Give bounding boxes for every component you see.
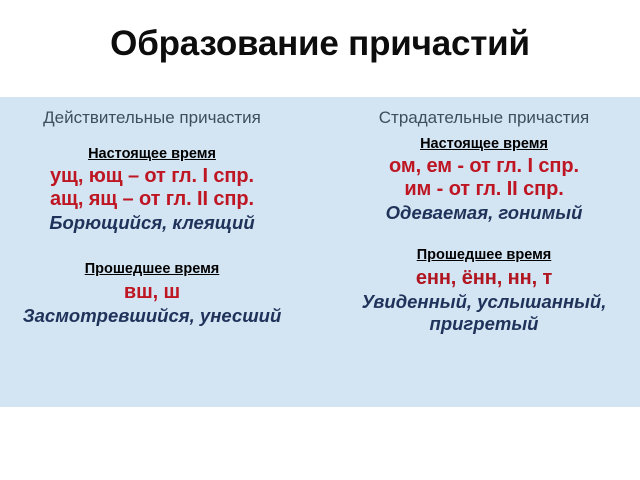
right-past-tense-block: Прошедшее время енн, ённ, нн, т Увиденны…: [342, 246, 626, 335]
right-present-tense-block: Настоящее время ом, ем - от гл. I спр. и…: [342, 135, 626, 225]
right-past-tense-label: Прошедшее время: [342, 246, 626, 264]
left-past-examples: Засмотревшийся, унесший: [10, 305, 294, 327]
right-past-examples: Увиденный, услышанный, пригретый: [342, 291, 626, 335]
right-past-rule-line-1: енн, ённ, нн, т: [342, 267, 626, 290]
left-present-tense-block: Настоящее время ущ, ющ – от гл. I спр. а…: [10, 145, 294, 235]
column-heading-passive: Страдательные причастия: [342, 97, 626, 129]
left-present-rule-line-1: ущ, ющ – от гл. I спр.: [10, 165, 294, 188]
right-present-rule-line-2: им - от гл. II спр.: [342, 178, 626, 201]
left-past-rule-line-1: вш, ш: [10, 281, 294, 304]
right-present-examples: Одеваемая, гонимый: [342, 202, 626, 224]
right-present-tense-label: Настоящее время: [342, 135, 626, 153]
column-active-participles: Действительные причастия Настоящее время…: [0, 97, 320, 407]
left-present-examples: Борющийся, клеящий: [10, 212, 294, 234]
left-present-rule-line-2: ащ, ящ – от гл. II спр.: [10, 188, 294, 211]
column-passive-participles: Страдательные причастия Настоящее время …: [320, 97, 640, 407]
column-heading-active: Действительные причастия: [10, 97, 294, 129]
left-past-tense-block: Прошедшее время вш, ш Засмотревшийся, ун…: [10, 260, 294, 327]
page-title: Образование причастий: [0, 26, 640, 63]
left-past-tense-label: Прошедшее время: [10, 260, 294, 278]
content-panel: Действительные причастия Настоящее время…: [0, 97, 640, 407]
right-present-rule-line-1: ом, ем - от гл. I спр.: [342, 155, 626, 178]
slide: Образование причастий Действительные при…: [0, 0, 640, 480]
left-present-tense-label: Настоящее время: [10, 145, 294, 163]
columns-container: Действительные причастия Настоящее время…: [0, 97, 640, 407]
